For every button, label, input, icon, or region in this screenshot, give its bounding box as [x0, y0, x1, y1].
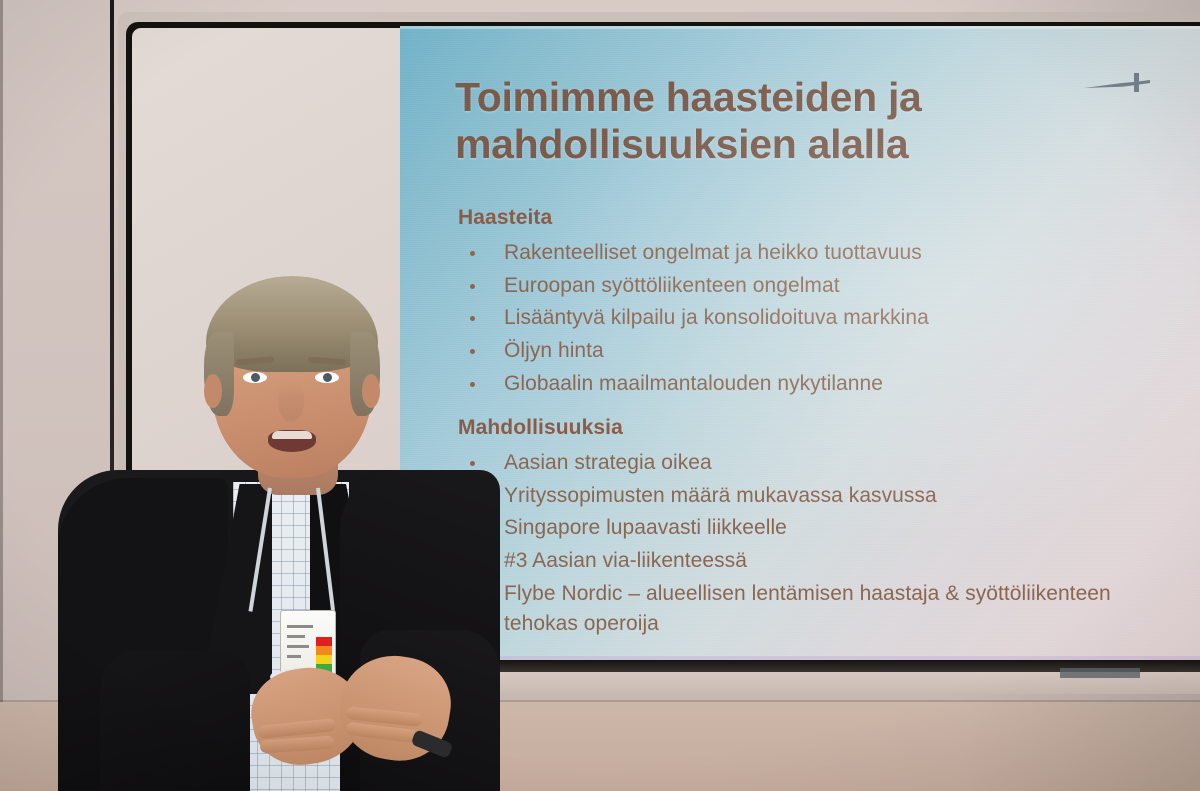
bullet-item: Öljyn hinta	[458, 336, 1158, 367]
arm-left	[100, 650, 250, 791]
slide-top-edge	[400, 26, 1200, 29]
bullet-item: Rakenteelliset ongelmat ja heikko tuotta…	[458, 238, 1158, 269]
pupil-right	[323, 373, 332, 382]
screen-mount-bracket	[1060, 668, 1140, 678]
ear-left	[204, 374, 222, 408]
bullet-item: Yrityssopimusten määrä mukavassa kasvuss…	[458, 481, 1158, 512]
speaker-person	[40, 270, 520, 791]
section-heading: Mahdollisuuksia	[458, 416, 1158, 440]
teeth	[272, 431, 312, 439]
projected-slide: Toimimme haasteiden ja mahdollisuuksien …	[400, 26, 1200, 660]
slide-section-challenges: Haasteita Rakenteelliset ongelmat ja hei…	[458, 206, 1158, 401]
bullet-item: Aasian strategia oikea	[458, 448, 1158, 479]
bullet-list: Rakenteelliset ongelmat ja heikko tuotta…	[458, 238, 1158, 399]
finnair-logo-icon	[1082, 70, 1152, 96]
section-heading: Haasteita	[458, 206, 1158, 230]
presentation-photo-scene: Toimimme haasteiden ja mahdollisuuksien …	[0, 0, 1200, 791]
ear-right	[362, 374, 380, 408]
bullet-list: Aasian strategia oikea Yrityssopimusten …	[458, 448, 1158, 640]
pupil-left	[251, 373, 260, 382]
wall-edge-left	[0, 0, 3, 791]
slide-title: Toimimme haasteiden ja mahdollisuuksien …	[455, 74, 1085, 167]
nose	[278, 382, 304, 422]
bullet-item: Globaalin maailmantalouden nykytilanne	[458, 369, 1158, 400]
bullet-item: Lisääntyvä kilpailu ja konsolidoituva ma…	[458, 303, 1158, 334]
bullet-item: Euroopan syöttöliikenteen ongelmat	[458, 271, 1158, 302]
bullet-item: Singapore lupaavasti liikkeelle	[458, 513, 1158, 544]
bullet-item: #3 Aasian via-liikenteessä	[458, 546, 1158, 577]
suit-shoulder-left	[58, 478, 228, 678]
bullet-item: Flybe Nordic – alueellisen lentämisen ha…	[458, 579, 1158, 640]
slide-section-opportunities: Mahdollisuuksia Aasian strategia oikea Y…	[458, 416, 1158, 642]
